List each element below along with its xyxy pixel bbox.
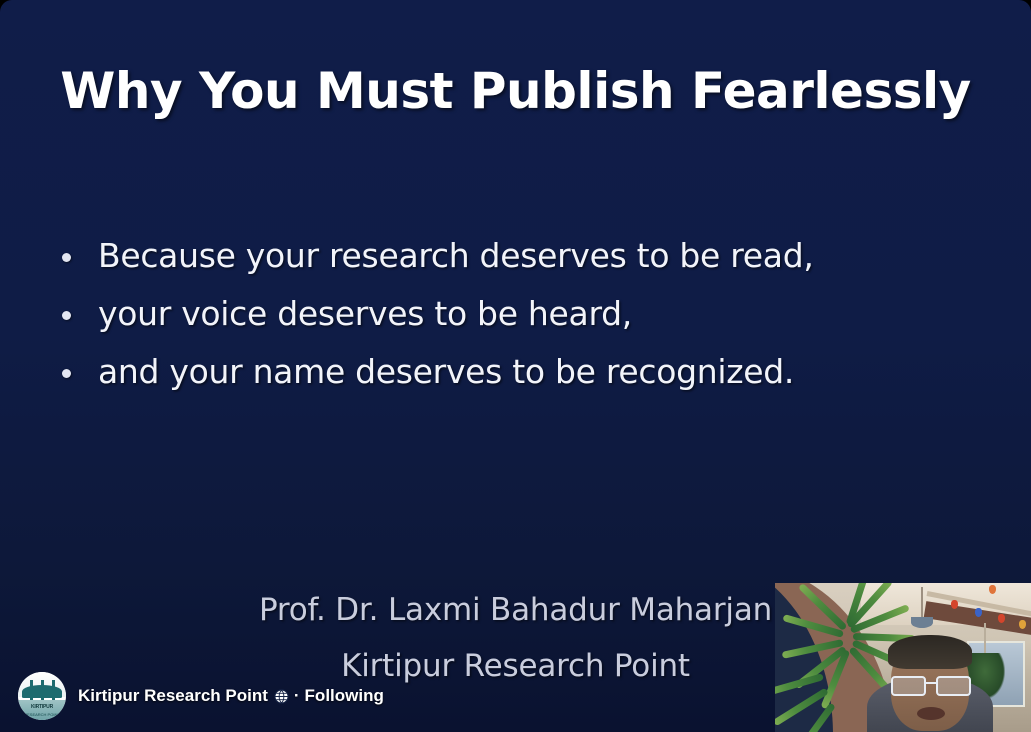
- webcam-bulb-icon: [998, 614, 1005, 623]
- bullet-dot-icon: [62, 311, 71, 320]
- bullet-item: Because your research deserves to be rea…: [62, 233, 922, 291]
- avatar-label-line1: KIRTIPUR: [18, 704, 66, 710]
- follow-status-button[interactable]: Following: [305, 686, 384, 706]
- video-player[interactable]: Why You Must Publish Fearlessly Because …: [0, 0, 1031, 732]
- bullet-dot-icon: [62, 253, 71, 262]
- webcam-bulb-icon: [951, 600, 958, 609]
- webcam-person-mouth: [917, 707, 945, 720]
- presenter-webcam-overlay[interactable]: [775, 583, 1031, 732]
- webcam-bulb-icon: [989, 585, 996, 594]
- attribution-meta: Kirtipur Research Point · Following: [78, 686, 384, 706]
- bullet-item: and your name deserves to be recognized.: [62, 349, 922, 407]
- webcam-person-hair: [888, 635, 972, 669]
- bullet-item: your voice deserves to be heard,: [62, 291, 922, 349]
- bullet-text: and your name deserves to be recognized.: [98, 349, 794, 395]
- avatar-pillar: [52, 680, 55, 702]
- avatar-label-line2: RESEARCH POINT: [18, 712, 66, 717]
- webcam-pendant-cord: [921, 587, 923, 619]
- separator-dot: ·: [294, 686, 300, 706]
- bullet-dot-icon: [62, 369, 71, 378]
- avatar-pillar: [41, 680, 44, 702]
- page-name-link[interactable]: Kirtipur Research Point: [78, 686, 268, 706]
- page-attribution-bar[interactable]: KIRTIPUR RESEARCH POINT Kirtipur Researc…: [0, 660, 384, 732]
- slide-title: Why You Must Publish Fearlessly: [0, 62, 1031, 120]
- slide-bullet-list: Because your research deserves to be rea…: [62, 233, 922, 407]
- bullet-text: your voice deserves to be heard,: [98, 291, 632, 337]
- avatar[interactable]: KIRTIPUR RESEARCH POINT: [18, 672, 66, 720]
- webcam-bulb-icon: [975, 608, 982, 617]
- webcam-bulb-icon: [1019, 620, 1026, 629]
- avatar-pillar: [30, 680, 33, 702]
- avatar-base: [18, 700, 66, 720]
- bullet-text: Because your research deserves to be rea…: [98, 233, 814, 279]
- webcam-person-glasses-icon: [891, 676, 971, 692]
- globe-icon: [274, 689, 289, 704]
